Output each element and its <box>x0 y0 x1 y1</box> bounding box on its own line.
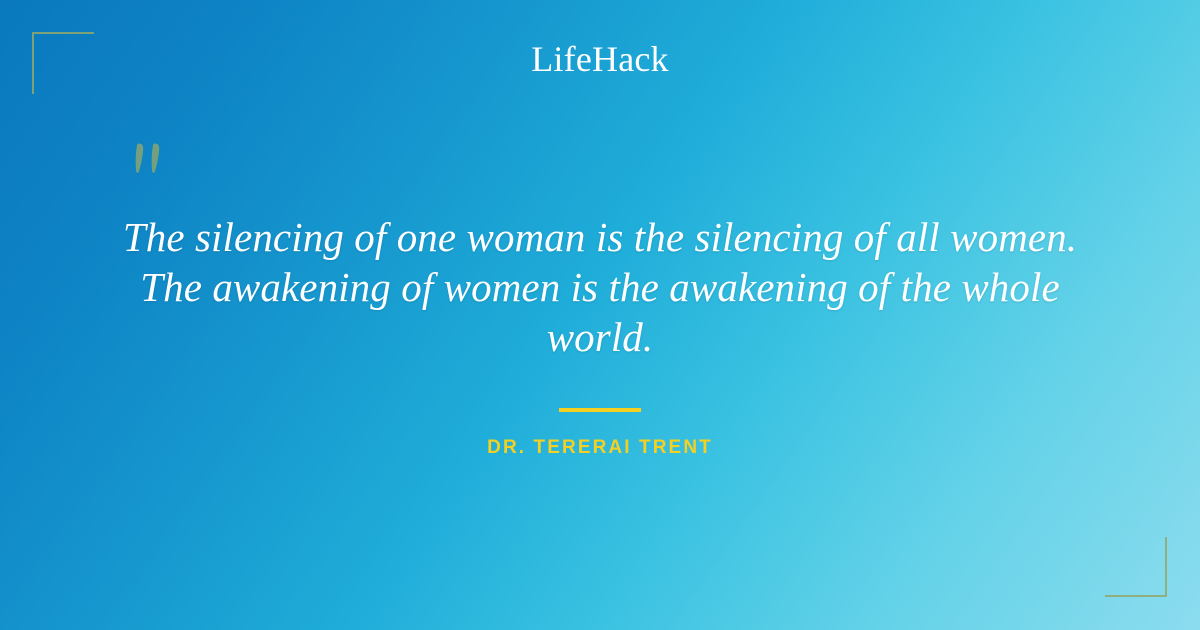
attribution-author-name: DR. TERERAI TRENT <box>0 438 1200 457</box>
quote-body: The silencing of one woman is the silenc… <box>0 212 1200 362</box>
quote-line-2: The awakening of women is the awakening … <box>100 262 1100 312</box>
brand-header: LifeHack <box>0 41 1200 77</box>
double-quote-mark-icon <box>128 140 184 196</box>
corner-bracket-bottom-right-icon <box>1105 537 1167 597</box>
quote-card: LifeHack The silencing of one woman is t… <box>0 0 1200 630</box>
attribution-block: DR. TERERAI TRENT <box>0 408 1200 457</box>
quote-line-3: world. <box>100 312 1100 362</box>
brand-logo: LifeHack <box>531 41 669 77</box>
attribution-divider <box>559 408 641 412</box>
quote-line-1: The silencing of one woman is the silenc… <box>100 212 1100 262</box>
